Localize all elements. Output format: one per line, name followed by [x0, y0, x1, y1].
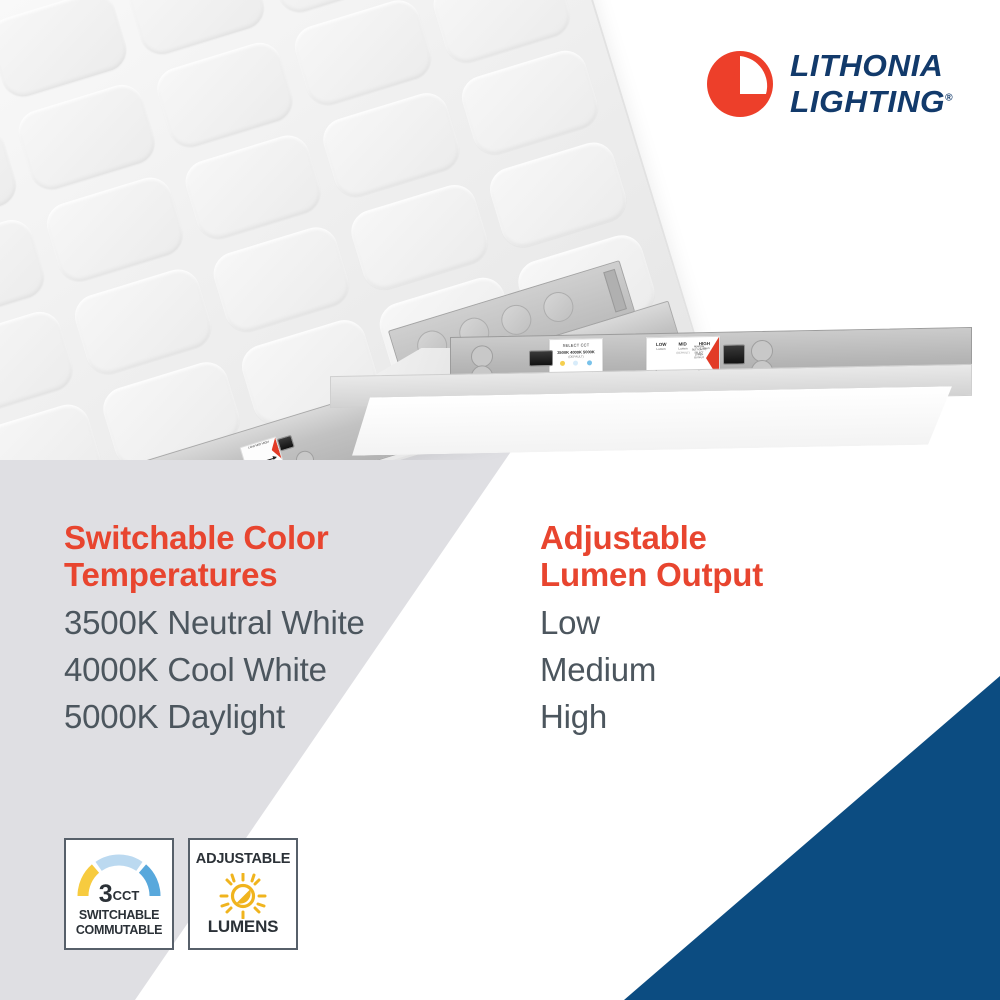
- feature-column-switchable-color-temperatures: Switchable Color Temperatures 3500K Neut…: [64, 520, 504, 740]
- cct-tag-heading: SELECT CCT: [550, 342, 602, 348]
- badge-cct-words: SWITCHABLE COMMUTABLE: [66, 908, 172, 939]
- cct-slide-switch[interactable]: [529, 350, 553, 366]
- swatch-3500k: [560, 361, 565, 366]
- feature-item-4000k: 4000K Cool White: [64, 647, 504, 694]
- lumen-label-options: LOW MID HIGH: [242, 439, 276, 453]
- mounting-screw: [294, 449, 316, 460]
- lumen-sub-mid: Lumen: [678, 346, 687, 350]
- bracket-hole: [471, 345, 493, 367]
- registered-mark: ®: [945, 93, 953, 104]
- badge-cct-count: 3CCT: [66, 882, 172, 907]
- brand-line-2: LIGHTING®: [790, 86, 957, 117]
- troffer-dimple: [485, 137, 632, 252]
- swatch-4000k: [573, 361, 578, 366]
- feature-title-line: Temperatures: [64, 557, 504, 594]
- lithonia-swoosh-mark-icon: [706, 50, 774, 118]
- lumen-slide-switch[interactable]: [723, 344, 745, 364]
- bracket-hole: [751, 340, 773, 362]
- lumen-tag-callout: REMOVE SECTION TO SELECT LUMEN OUTPUT: [691, 346, 707, 360]
- feature-item-high: High: [540, 694, 940, 741]
- badge-cct-unit: CCT: [113, 888, 140, 903]
- troffer-dimple: [0, 399, 106, 460]
- troffer-dimple: [180, 130, 327, 245]
- brand-line-1: LITHONIA: [790, 50, 957, 81]
- certification-badges: 3CCT SWITCHABLE COMMUTABLE ADJUSTABLE: [64, 838, 298, 950]
- badge-line-commutable: COMMUTABLE: [66, 923, 172, 938]
- feature-item-low: Low: [540, 600, 940, 647]
- feature-title-line: Switchable Color: [64, 520, 504, 557]
- feature-column-adjustable-lumen-output: Adjustable Lumen Output Low Medium High: [540, 520, 940, 740]
- troffer-dimple: [13, 79, 160, 194]
- feature-columns: Switchable Color Temperatures 3500K Neut…: [0, 520, 1000, 820]
- swatch-5000k: [587, 360, 592, 365]
- feature-title-line: Lumen Output: [540, 557, 940, 594]
- brand-logo: LITHONIA LIGHTING®: [706, 44, 954, 126]
- troffer-dimple: [151, 37, 298, 152]
- led-troffer-edge-view: SELECT CCT 3500K 4000K 5000K (DEFAULT) L…: [330, 318, 970, 458]
- feature-item-medium: Medium: [540, 647, 940, 694]
- troffer-lens: [352, 386, 952, 456]
- feature-title: Adjustable Lumen Output: [540, 520, 940, 594]
- feature-item-5000k: 5000K Daylight: [64, 694, 504, 741]
- feature-item-3500k: 3500K Neutral White: [64, 600, 504, 647]
- badge-line-lumens: LUMENS: [190, 917, 296, 937]
- lumen-dip-switch[interactable]: [277, 435, 295, 452]
- feature-title: Switchable Color Temperatures: [64, 520, 504, 594]
- troffer-dimple: [290, 0, 437, 110]
- troffer-dimple: [41, 172, 188, 287]
- feature-title-line: Adjustable: [540, 520, 940, 557]
- badge-adjustable-lumens: ADJUSTABLE: [188, 838, 298, 950]
- lumen-range-arrow: [251, 457, 276, 460]
- badge-line-switchable: SWITCHABLE: [66, 908, 172, 923]
- badge-3cct-switchable-commutable: 3CCT SWITCHABLE COMMUTABLE: [64, 838, 174, 950]
- sun-icon: [217, 873, 269, 919]
- lumen-sub-low: Lumen: [656, 347, 665, 351]
- troffer-dimple: [318, 87, 465, 202]
- brand-wordmark: LITHONIA LIGHTING®: [790, 50, 954, 117]
- troffer-dimple: [457, 45, 604, 160]
- troffer-dimple: [346, 180, 493, 295]
- marketing-infographic: SELECT CCT 3500K 4000K 5000K LOW MID HIG…: [0, 0, 1000, 1000]
- troffer-dimple: [69, 264, 216, 379]
- badge-line-adjustable: ADJUSTABLE: [190, 851, 296, 867]
- jbox-slot: [603, 269, 627, 313]
